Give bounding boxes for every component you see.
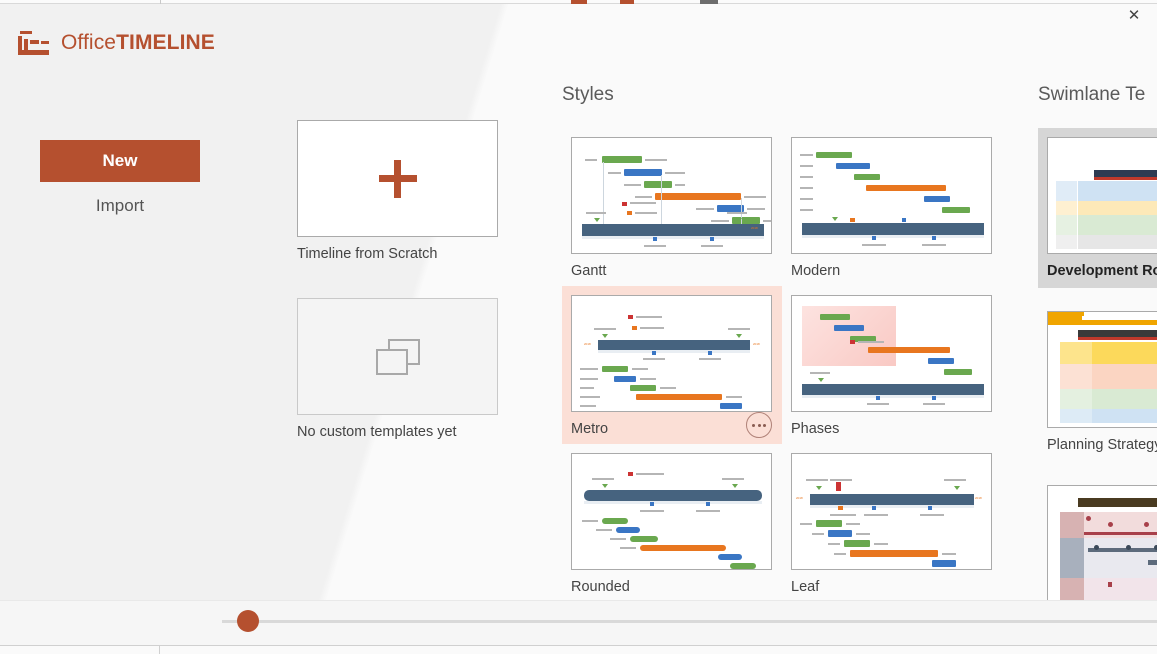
style-card-gantt[interactable]: 2018 Gantt (562, 128, 782, 286)
swimlane-card-development-roadmap[interactable]: Development Roa (1038, 128, 1157, 288)
bar-chart-logo-icon (18, 30, 50, 56)
mini-swimlane-art (1048, 138, 1157, 253)
left-rail: New Import (0, 120, 280, 220)
card-label: Development Roa (1047, 263, 1157, 279)
card-label: Timeline from Scratch (297, 246, 498, 262)
mini-swimlane-art (1048, 312, 1157, 427)
top-ribbon-strip (0, 0, 1157, 4)
card-timeline-from-scratch[interactable]: Timeline from Scratch (297, 120, 498, 262)
development-roadmap-thumbnail[interactable] (1047, 137, 1157, 254)
ribbon-mark (620, 0, 634, 4)
plus-icon (379, 160, 417, 198)
status-bar (0, 645, 1157, 654)
styles-grid: 2018 Gantt (562, 128, 1002, 602)
style-card-metro[interactable]: 2018 2018 (562, 286, 782, 444)
product-development-thumbnail[interactable] (1047, 485, 1157, 602)
styles-column-title: Styles (562, 84, 1002, 106)
style-card-leaf[interactable]: 2018 2018 (782, 444, 1002, 602)
logo-text-light: Office (61, 31, 116, 54)
leaf-thumbnail[interactable]: 2018 2018 (791, 453, 992, 570)
mini-timeline-art (792, 138, 991, 253)
styles-column: Styles (562, 84, 1002, 602)
horizontal-scrollbar-thumb[interactable] (237, 610, 259, 632)
ribbon-mark (700, 0, 718, 4)
logo-text-bold: TIMELINE (116, 31, 215, 54)
card-label: Planning Strategy (1047, 437, 1157, 453)
horizontal-scrollbar-track[interactable] (222, 620, 1157, 623)
metro-thumbnail[interactable]: 2018 2018 (571, 295, 772, 412)
card-label: Rounded (571, 579, 773, 595)
modern-thumbnail[interactable] (791, 137, 992, 254)
swimlane-templates-column: Swimlane Te (1038, 84, 1157, 636)
mini-timeline-art: 2018 (572, 138, 771, 253)
app-logo: OfficeTIMELINE (18, 30, 215, 56)
duplicate-placeholder-icon (376, 339, 420, 375)
swimlane-card-planning-strategy[interactable]: Planning Strategy (1038, 302, 1157, 462)
card-no-custom-templates: No custom templates yet (297, 298, 498, 440)
no-custom-templates-thumbnail (297, 298, 498, 415)
style-card-modern[interactable]: Modern (782, 128, 1002, 286)
card-label: Leaf (791, 579, 993, 595)
custom-templates-column: Timeline from Scratch No custom template… (297, 120, 498, 462)
ribbon-mark (571, 0, 587, 4)
style-card-rounded[interactable]: Rounded (562, 444, 782, 602)
style-card-phases[interactable]: Phases (782, 286, 1002, 444)
swimlane-column-title: Swimlane Te (1038, 84, 1157, 106)
timeline-from-scratch-thumbnail[interactable] (297, 120, 498, 237)
mini-timeline-art (792, 296, 991, 411)
new-button[interactable]: New (40, 140, 200, 182)
status-bar-divider (0, 646, 160, 654)
import-button[interactable]: Import (40, 192, 200, 220)
rounded-thumbnail[interactable] (571, 453, 772, 570)
close-button[interactable]: ✕ (1111, 0, 1157, 30)
planning-strategy-thumbnail[interactable] (1047, 311, 1157, 428)
card-label: Metro (571, 421, 773, 437)
gantt-thumbnail[interactable]: 2018 (571, 137, 772, 254)
mini-timeline-art: 2018 2018 (792, 454, 991, 569)
ellipsis-icon[interactable] (746, 412, 772, 438)
card-label: Phases (791, 421, 993, 437)
card-label: Gantt (571, 263, 773, 279)
phases-thumbnail[interactable] (791, 295, 992, 412)
card-label: No custom templates yet (297, 424, 498, 440)
mini-timeline-art: 2018 2018 (572, 296, 771, 411)
mini-swimlane-art (1048, 486, 1157, 601)
mini-timeline-art (572, 454, 771, 569)
logo-text: OfficeTIMELINE (61, 31, 215, 55)
ribbon-mark (160, 0, 161, 4)
card-label: Modern (791, 263, 993, 279)
office-timeline-gallery-window: ✕ OfficeTIMELINE New Import Timeline fro… (0, 0, 1157, 654)
